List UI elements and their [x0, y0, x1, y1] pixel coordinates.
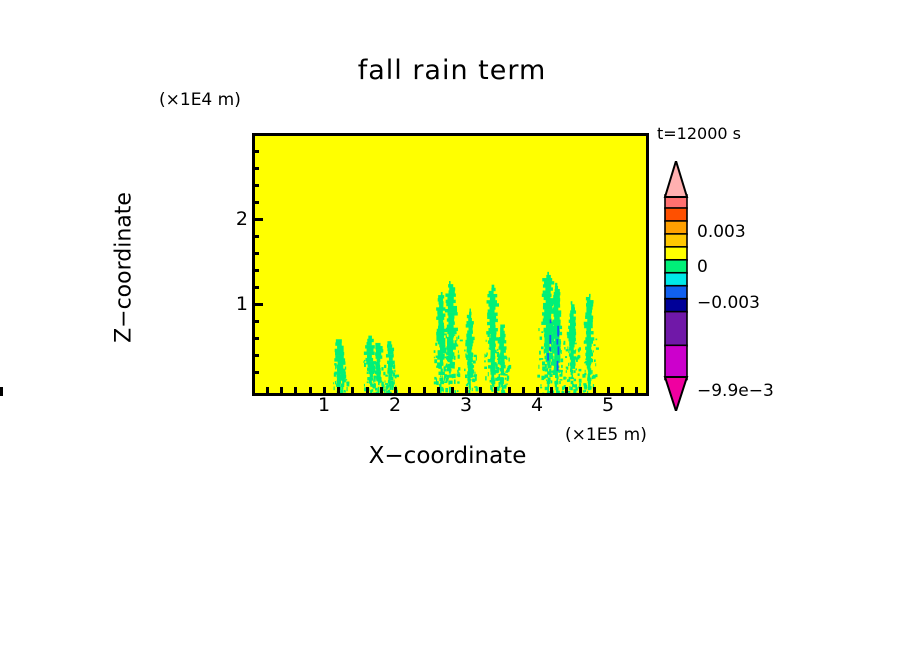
y-tick-minor: [252, 235, 259, 238]
colorbar: [661, 161, 691, 411]
x-tick-minor: [522, 387, 525, 393]
x-tick-minor: [635, 387, 638, 393]
y-tick-minor: [252, 354, 259, 357]
y-tick-minor: [252, 371, 259, 374]
x-axis-title: X−coordinate: [252, 443, 643, 469]
plot-area: [252, 133, 649, 396]
y-tick-label-1: 1: [218, 293, 248, 315]
x-tick-label-3: 3: [451, 394, 481, 416]
y-tick-major-2: [252, 218, 263, 221]
x-tick-minor: [380, 387, 383, 393]
y-tick-minor: [252, 184, 259, 187]
x-tick-minor: [309, 387, 312, 393]
y-tick-minor: [252, 252, 259, 255]
colorbar-label-zero: 0: [697, 257, 708, 277]
x-tick-minor: [565, 387, 568, 393]
x-tick-minor: [423, 387, 426, 393]
x-tick-minor: [550, 387, 553, 393]
y-tick-minor: [252, 269, 259, 272]
x-tick-major-2: [0, 387, 3, 396]
chart-title: fall rain term: [0, 55, 904, 86]
x-tick-label-5: 5: [593, 394, 623, 416]
x-tick-minor: [266, 387, 269, 393]
y-tick-minor: [252, 337, 259, 340]
x-tick-minor: [280, 387, 283, 393]
x-tick-minor: [508, 387, 511, 393]
x-tick-minor: [408, 387, 411, 393]
y-tick-minor: [252, 320, 259, 323]
y-tick-minor: [252, 167, 259, 170]
x-axis-units-label: (×1E5 m): [565, 425, 647, 445]
x-tick-minor: [451, 387, 454, 393]
heatmap-canvas: [255, 136, 646, 393]
y-tick-minor: [252, 150, 259, 153]
x-tick-minor: [294, 387, 297, 393]
y-tick-minor: [252, 201, 259, 204]
colorbar-label-low: −0.003: [697, 293, 760, 313]
x-tick-minor: [437, 387, 440, 393]
x-tick-minor: [337, 387, 340, 393]
x-tick-minor: [579, 387, 582, 393]
x-tick-minor: [621, 387, 624, 393]
y-tick-label-2: 2: [218, 208, 248, 230]
x-tick-minor: [494, 387, 497, 393]
x-tick-label-4: 4: [522, 394, 552, 416]
timestamp-annotation: t=12000 s: [657, 124, 741, 143]
x-tick-minor: [366, 387, 369, 393]
y-axis-title: Z−coordinate: [112, 138, 137, 398]
x-tick-label-1: 1: [309, 394, 339, 416]
figure-canvas: fall rain term (×1E4 m) t=12000 s 2 1: [0, 0, 904, 654]
y-tick-minor: [252, 286, 259, 289]
colorbar-label-min: −9.9e−3: [697, 381, 774, 401]
y-tick-major-1: [252, 303, 263, 306]
x-tick-minor: [351, 387, 354, 393]
x-tick-minor: [479, 387, 482, 393]
colorbar-label-high: 0.003: [697, 222, 746, 242]
colorbar-swatches: [661, 161, 691, 411]
y-axis-units-label: (×1E4 m): [159, 90, 241, 110]
x-tick-minor: [593, 387, 596, 393]
x-tick-label-2: 2: [380, 394, 410, 416]
